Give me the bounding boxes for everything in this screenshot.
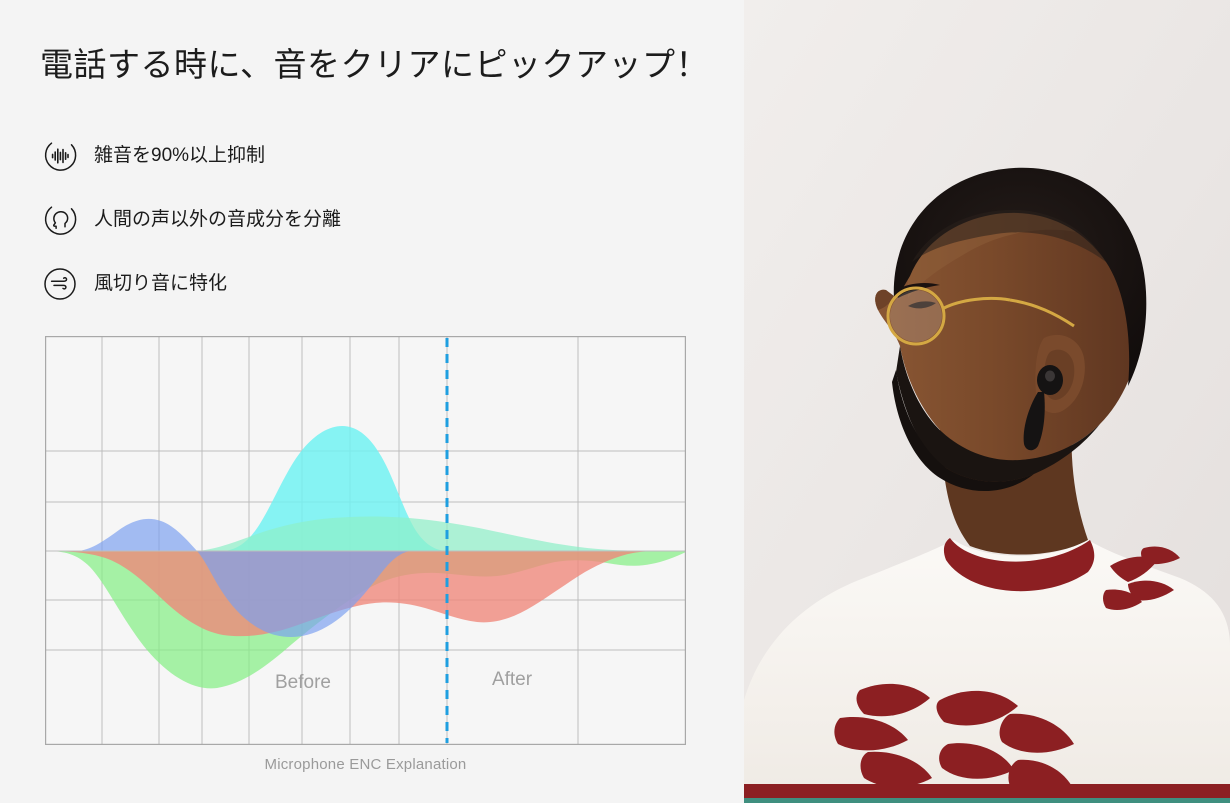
feature-label: 雑音を90%以上抑制 [94, 144, 265, 168]
head-profile-icon [40, 200, 80, 240]
feature-list: 雑音を90%以上抑制 人間の声以外の音成分を分離 [40, 131, 680, 323]
before-label: Before [275, 672, 331, 693]
feature-label: 風切り音に特化 [94, 272, 227, 296]
chart-caption: Microphone ENC Explanation [45, 756, 686, 773]
content-panel: 電話する時に、音をクリアにピックアップ！ [0, 0, 744, 803]
wind-lines-icon [40, 264, 80, 304]
sound-wave-icon [40, 136, 80, 176]
promo-page: 電話する時に、音をクリアにピックアップ！ [0, 0, 1230, 803]
feature-label: 人間の声以外の音成分を分離 [94, 208, 341, 232]
feature-item-noise-suppression: 雑音を90%以上抑制 [40, 131, 680, 181]
sweater-stripe [744, 798, 1230, 803]
after-label: After [492, 669, 533, 690]
page-title: 電話する時に、音をクリアにピックアップ！ [40, 42, 709, 88]
enc-waveform-chart: Before After [45, 336, 686, 745]
photo-illustration [744, 0, 1230, 803]
chart-canvas: Before After [45, 336, 686, 745]
product-photo [744, 0, 1230, 803]
feature-item-voice-isolation: 人間の声以外の音成分を分離 [40, 195, 680, 245]
feature-item-wind-noise: 風切り音に特化 [40, 259, 680, 309]
glasses-lens [890, 290, 942, 342]
